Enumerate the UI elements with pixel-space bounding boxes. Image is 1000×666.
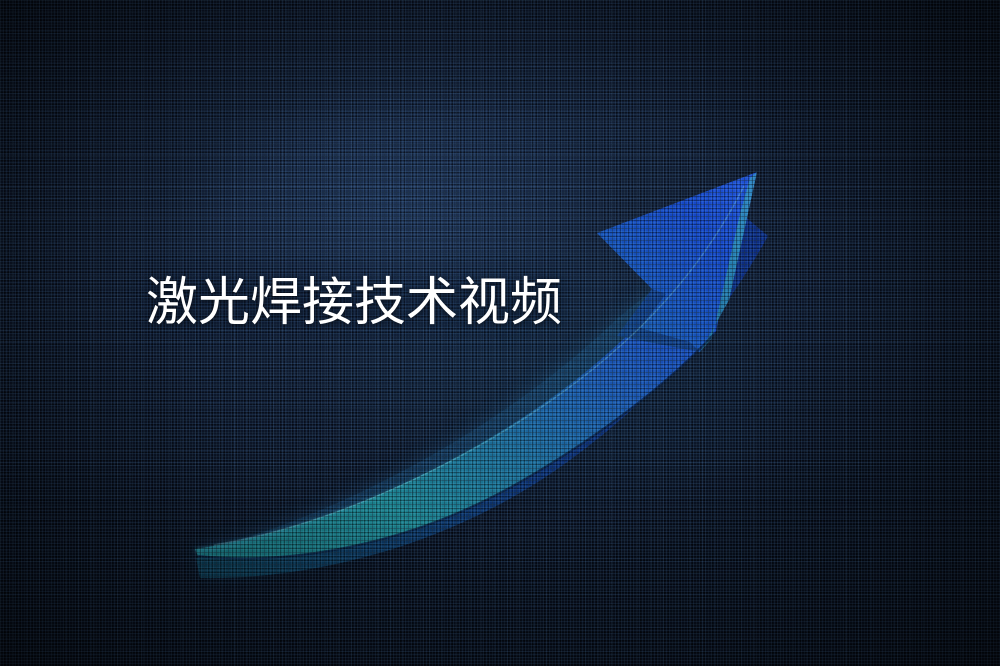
- page-title: 激光焊接技术视频: [146, 274, 562, 332]
- banner-canvas: 激光焊接技术视频: [0, 0, 1000, 666]
- background-vignette: [0, 0, 1000, 666]
